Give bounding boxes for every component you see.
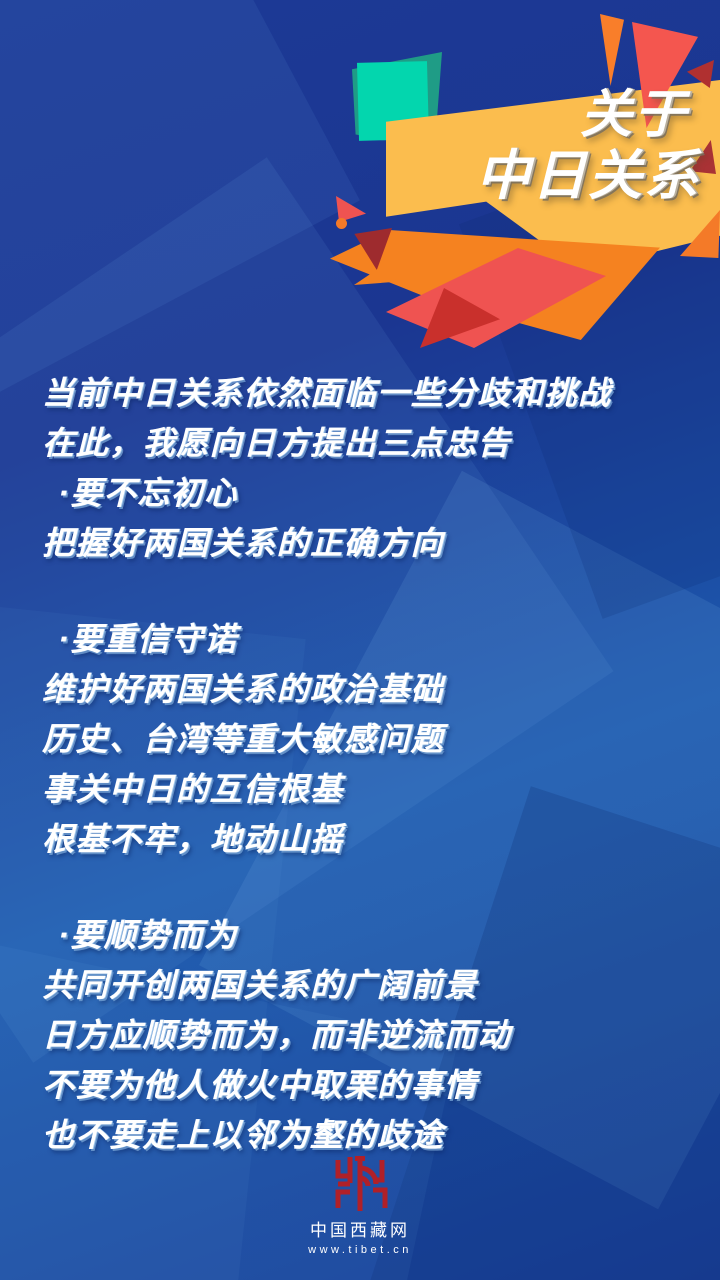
site-url: www.tibet.cn (0, 1244, 720, 1256)
body-paragraph: ·要顺势而为共同开创两国关系的广阔前景日方应顺势而为，而非逆流而动不要为他人做火… (0, 910, 720, 1160)
orange-dot-icon (336, 218, 347, 229)
body-line: 在此，我愿向日方提出三点忠告 (0, 418, 720, 468)
body-line: 根基不牢，地动山摇 (0, 814, 720, 864)
body-line: ·要重信守诺 (0, 614, 720, 664)
body-line: 历史、台湾等重大敏感问题 (0, 714, 720, 764)
poster-canvas: 关于 中日关系 当前中日关系依然面临一些分歧和挑战在此，我愿向日方提出三点忠告·… (0, 0, 720, 1280)
title-line-1: 关于 (400, 88, 700, 142)
body-line: ·要不忘初心 (0, 468, 720, 518)
body-paragraph: ·要重信守诺维护好两国关系的政治基础历史、台湾等重大敏感问题事关中日的互信根基根… (0, 614, 720, 864)
body-line: 维护好两国关系的政治基础 (0, 664, 720, 714)
paragraph-gap (0, 568, 720, 614)
body-line: ·要顺势而为 (0, 910, 720, 960)
body-line: 事关中日的互信根基 (0, 764, 720, 814)
title-line-2: 中日关系 (400, 148, 700, 204)
paragraph-gap (0, 864, 720, 910)
body-paragraph: 当前中日关系依然面临一些分歧和挑战在此，我愿向日方提出三点忠告·要不忘初心把握好… (0, 368, 720, 568)
tibet-seal-logo-icon (329, 1154, 391, 1214)
orange-triangle-icon (600, 14, 624, 86)
poster-title: 关于 中日关系 (400, 88, 700, 204)
body-line: 日方应顺势而为，而非逆流而动 (0, 1010, 720, 1060)
body-line: 不要为他人做火中取栗的事情 (0, 1060, 720, 1110)
body-line: 当前中日关系依然面临一些分歧和挑战 (0, 368, 720, 418)
header-graphic: 关于 中日关系 (0, 0, 720, 340)
body-line: 共同开创两国关系的广阔前景 (0, 960, 720, 1010)
body-line: 也不要走上以邻为壑的歧途 (0, 1110, 720, 1160)
body-line: 把握好两国关系的正确方向 (0, 518, 720, 568)
footer: 中国西藏网 www.tibet.cn (0, 1154, 720, 1256)
body-content: 当前中日关系依然面临一些分歧和挑战在此，我愿向日方提出三点忠告·要不忘初心把握好… (0, 368, 720, 1160)
site-name: 中国西藏网 (0, 1220, 720, 1242)
